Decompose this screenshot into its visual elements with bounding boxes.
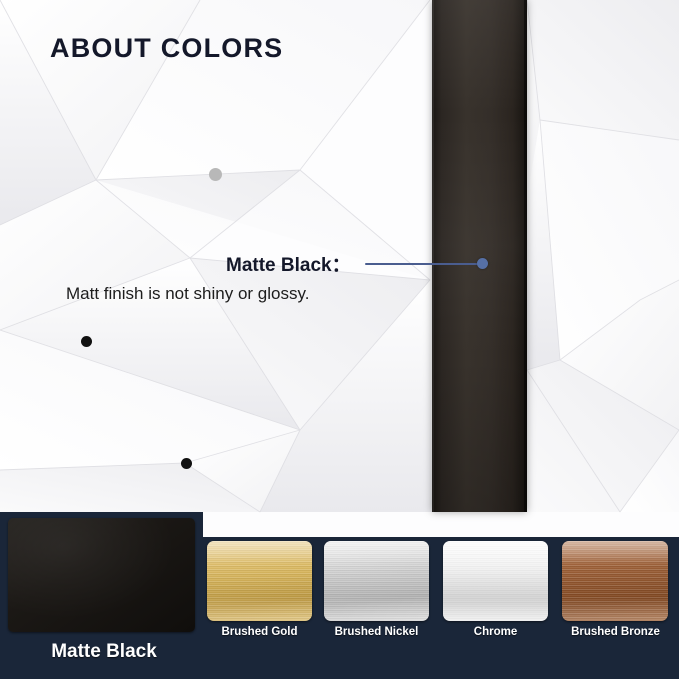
gloss-overlay (562, 541, 668, 621)
band-shadow-edge (524, 0, 527, 512)
matte-texture-overlay (8, 518, 195, 632)
swatch-label-chrome: Chrome (433, 626, 558, 638)
callout-label: Matte Black： (226, 250, 351, 277)
swatch-brushed-bronze[interactable] (562, 541, 668, 621)
swatch-label-brushed-gold: Brushed Gold (197, 626, 322, 638)
dark-dot-marker-a (81, 336, 92, 347)
infographic-canvas: ABOUT COLORS Matte Black： Matt finish is… (0, 0, 679, 679)
swatch-label-brushed-bronze: Brushed Bronze (552, 626, 679, 638)
swatch-label-matte-black: Matte Black (34, 641, 174, 663)
callout-leader-dot (477, 258, 488, 269)
dark-dot-marker-b (181, 458, 192, 469)
band-sheen-overlay (432, 0, 527, 512)
product-band-matte-black (432, 0, 527, 512)
callout-leader-line (365, 263, 480, 265)
swatch-brushed-gold[interactable] (207, 541, 312, 621)
swatch-label-brushed-nickel: Brushed Nickel (314, 626, 439, 638)
gloss-overlay (324, 541, 429, 621)
callout-description: Matt finish is not shiny or glossy. (66, 284, 309, 304)
swatch-brushed-nickel[interactable] (324, 541, 429, 621)
gray-dot-marker (209, 168, 222, 181)
page-title: ABOUT COLORS (50, 33, 283, 64)
gloss-overlay (207, 541, 312, 621)
swatch-chrome[interactable] (443, 541, 548, 621)
swatch-matte-black[interactable] (8, 518, 195, 632)
gloss-overlay (443, 541, 548, 621)
